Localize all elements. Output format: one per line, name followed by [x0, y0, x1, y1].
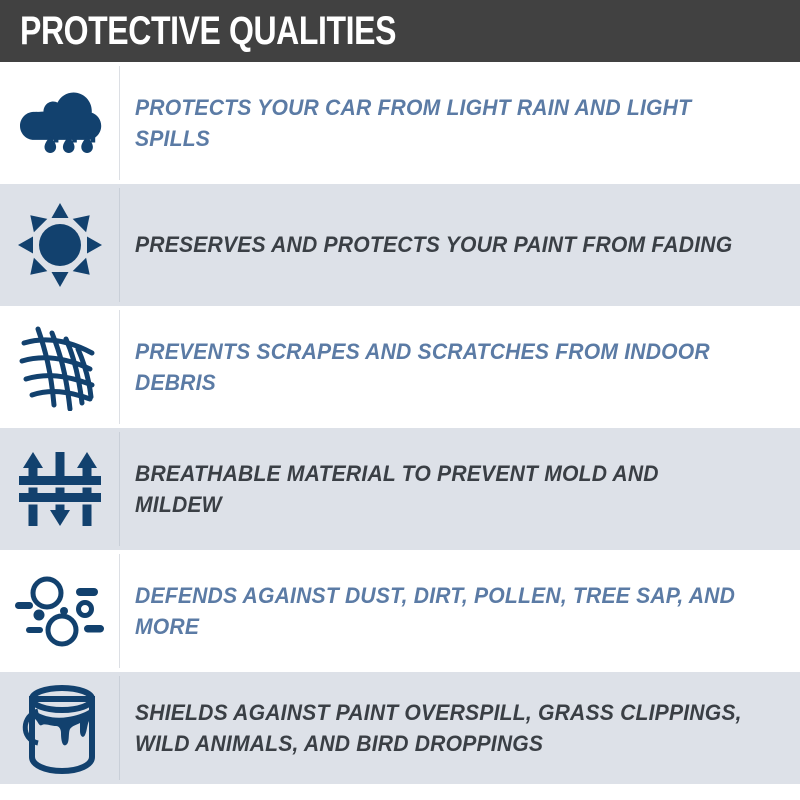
icon-cell [0, 672, 119, 784]
breathable-arrows-icon [17, 446, 103, 532]
feature-text: SHIELDS AGAINST PAINT OVERSPILL, GRASS C… [135, 697, 750, 759]
feature-row: PROTECTS YOUR CAR FROM LIGHT RAIN AND LI… [0, 62, 800, 184]
text-cell: BREATHABLE MATERIAL TO PREVENT MOLD AND … [120, 428, 800, 550]
page-title: PROTECTIVE QUALITIES [20, 11, 396, 51]
protective-qualities-infographic: PROTECTIVE QUALITIES PROTECTS YOUR CAR F… [0, 0, 800, 800]
icon-cell [0, 550, 119, 672]
header-bar: PROTECTIVE QUALITIES [0, 0, 800, 62]
icon-cell [0, 306, 119, 428]
paint-can-icon [18, 681, 102, 775]
feature-text: DEFENDS AGAINST DUST, DIRT, POLLEN, TREE… [135, 580, 750, 642]
icon-cell [0, 428, 119, 550]
feature-row: DEFENDS AGAINST DUST, DIRT, POLLEN, TREE… [0, 550, 800, 672]
feature-row: PRESERVES AND PROTECTS YOUR PAINT FROM F… [0, 184, 800, 306]
icon-cell [0, 62, 119, 184]
feature-row: PREVENTS SCRAPES AND SCRATCHES FROM INDO… [0, 306, 800, 428]
feature-row: BREATHABLE MATERIAL TO PREVENT MOLD AND … [0, 428, 800, 550]
feature-text: PREVENTS SCRAPES AND SCRATCHES FROM INDO… [135, 336, 750, 398]
text-cell: DEFENDS AGAINST DUST, DIRT, POLLEN, TREE… [120, 550, 800, 672]
feature-list: PROTECTS YOUR CAR FROM LIGHT RAIN AND LI… [0, 62, 800, 784]
dust-particles-icon [13, 571, 107, 651]
feature-text: PRESERVES AND PROTECTS YOUR PAINT FROM F… [135, 229, 732, 260]
feature-text: PROTECTS YOUR CAR FROM LIGHT RAIN AND LI… [135, 92, 750, 154]
scratch-mesh-icon [18, 323, 102, 411]
icon-cell [0, 184, 119, 306]
text-cell: PREVENTS SCRAPES AND SCRATCHES FROM INDO… [120, 306, 800, 428]
sun-icon [18, 203, 102, 287]
text-cell: SHIELDS AGAINST PAINT OVERSPILL, GRASS C… [120, 672, 800, 784]
feature-text: BREATHABLE MATERIAL TO PREVENT MOLD AND … [135, 458, 750, 520]
text-cell: PROTECTS YOUR CAR FROM LIGHT RAIN AND LI… [120, 62, 800, 184]
text-cell: PRESERVES AND PROTECTS YOUR PAINT FROM F… [120, 184, 800, 306]
rain-cloud-icon [17, 81, 103, 165]
feature-row: SHIELDS AGAINST PAINT OVERSPILL, GRASS C… [0, 672, 800, 784]
